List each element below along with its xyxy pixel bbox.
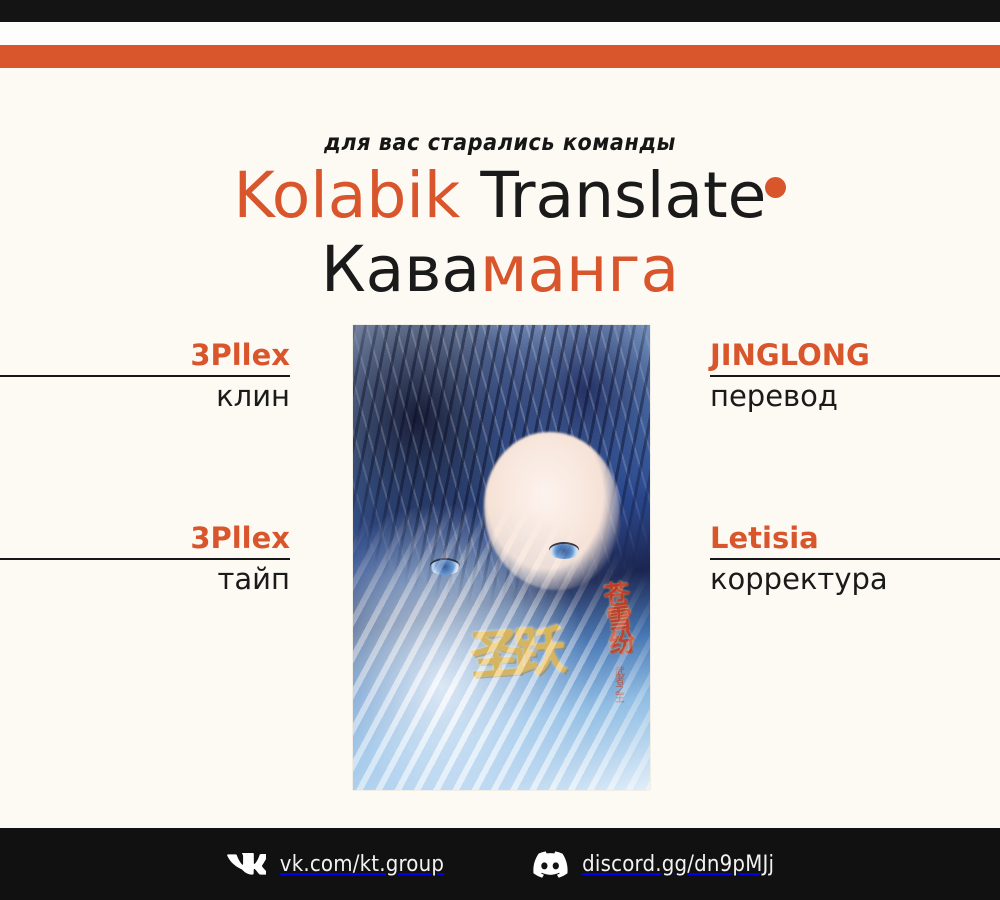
orange-dot-icon <box>765 177 786 198</box>
artwork-cn-gold-text: 圣跃 <box>469 630 560 679</box>
footer-link-label: discord.gg/dn9pMJj <box>582 852 774 877</box>
artwork-cn-small-text: 武者之王 <box>610 666 625 702</box>
credit-nick: 3Pllex <box>0 340 290 370</box>
artwork-eye-right <box>549 544 579 559</box>
artwork-eye-left <box>430 560 460 575</box>
credit-block-typeset: 3Pllex тайп <box>0 523 290 597</box>
credit-block-clean: 3Pllex клин <box>0 340 290 414</box>
artwork-illustration: 苍雪纷 圣跃 武者之王 <box>353 325 650 790</box>
credit-nick: Letisia <box>710 523 1000 553</box>
credit-block-translate: JINGLONG перевод <box>710 340 1000 414</box>
credit-role: перевод <box>710 380 1000 413</box>
page-subtitle: для вас старались команды <box>0 130 1000 156</box>
title-kava: Кава <box>321 233 480 306</box>
credits-page: для вас старались команды Kolabik Transl… <box>0 68 1000 828</box>
credit-divider <box>0 558 290 560</box>
top-white-bar <box>0 22 1000 45</box>
page-title-line-2: Каваманга <box>0 238 1000 301</box>
footer-link-discord[interactable]: discord.gg/dn9pMJj <box>532 850 774 878</box>
footer-bar: vk.com/kt.group discord.gg/dn9pMJj <box>0 828 1000 900</box>
footer-link-vk[interactable]: vk.com/kt.group <box>226 851 444 877</box>
credit-divider <box>710 375 1000 377</box>
credit-nick: 3Pllex <box>0 523 290 553</box>
title-manga: манга <box>480 233 679 306</box>
title-translate: Translate <box>460 159 766 232</box>
artwork-title-logo: 苍雪纷 圣跃 武者之王 <box>460 581 632 767</box>
page-title-line-1: Kolabik Translate <box>0 164 1000 227</box>
discord-icon <box>532 850 568 878</box>
top-dark-bar <box>0 0 1000 22</box>
credit-role: клин <box>0 380 290 413</box>
credit-divider <box>0 375 290 377</box>
footer-link-label: vk.com/kt.group <box>280 852 444 877</box>
credit-role: тайп <box>0 563 290 596</box>
artwork-face <box>484 432 621 590</box>
credit-nick: JINGLONG <box>710 340 1000 370</box>
credit-role: корректура <box>710 563 1000 596</box>
credit-block-proofread: Letisia корректура <box>710 523 1000 597</box>
title-kolabik: Kolabik <box>234 159 461 232</box>
manga-cover-artwork: 苍雪纷 圣跃 武者之王 <box>353 325 650 790</box>
vk-icon <box>226 851 266 877</box>
credit-divider <box>710 558 1000 560</box>
artwork-cn-red-text: 苍雪纷 <box>600 580 632 654</box>
top-orange-bar <box>0 45 1000 68</box>
